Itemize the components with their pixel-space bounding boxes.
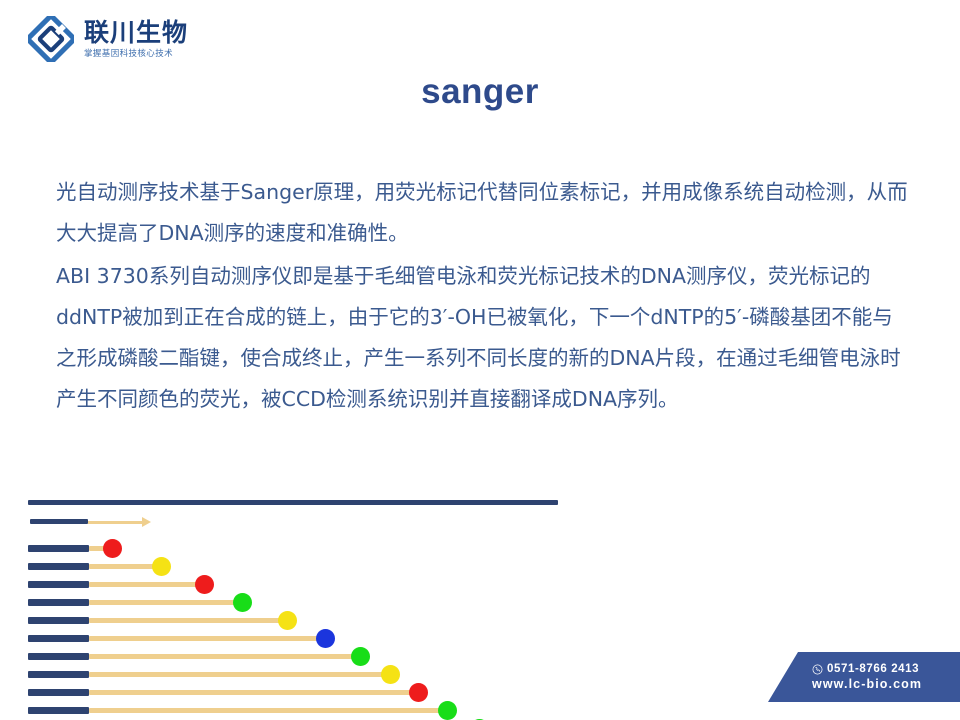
primer-segment (28, 689, 89, 696)
ddntp-dye-red (409, 683, 428, 702)
ddntp-dye-yellow (152, 557, 171, 576)
extended-strand-segment (89, 618, 287, 623)
ddntp-dye-yellow (381, 665, 400, 684)
paragraph-1: 光自动测序技术基于Sanger原理，用荧光标记代替同位素标记，并用成像系统自动检… (56, 172, 912, 254)
arrow-head-icon (142, 517, 151, 527)
extension-direction-arrow (88, 521, 142, 524)
ddntp-dye-yellow (278, 611, 297, 630)
dna-template-strand (28, 500, 558, 505)
ddntp-dye-green (233, 593, 252, 612)
company-logo: 联川生物 掌握基因科技核心技术 (28, 16, 188, 62)
primer-segment (28, 707, 89, 714)
telephone-icon (812, 664, 823, 675)
liankuan-diamond-logo-icon (28, 16, 74, 62)
extended-strand-segment (89, 708, 447, 713)
logo-company-name: 联川生物 (84, 20, 188, 45)
footer-website: www.lc-bio.com (812, 677, 960, 691)
extended-strand-segment (89, 564, 161, 569)
extended-strand-segment (89, 690, 418, 695)
logo-wordmark: 联川生物 掌握基因科技核心技术 (84, 20, 188, 59)
ddntp-dye-blue (316, 629, 335, 648)
ddntp-dye-red (103, 539, 122, 558)
extended-strand-segment (89, 654, 360, 659)
extended-strand-segment (89, 582, 204, 587)
contact-footer-banner: 0571-8766 2413 www.lc-bio.com (768, 652, 960, 702)
paragraph-2: ABI 3730系列自动测序仪即是基于毛细管电泳和荧光标记技术的DNA测序仪，荧… (56, 256, 912, 420)
primer-segment (30, 519, 88, 524)
ddntp-dye-red (195, 575, 214, 594)
extended-strand-segment (89, 636, 325, 641)
ddntp-dye-green (438, 701, 457, 720)
primer-segment (28, 653, 89, 660)
slide: 联川生物 掌握基因科技核心技术 sanger 光自动测序技术基于Sanger原理… (0, 0, 960, 720)
primer-segment (28, 635, 89, 642)
logo-tagline: 掌握基因科技核心技术 (84, 50, 188, 59)
page-title: sanger (0, 72, 960, 112)
extended-strand-segment (89, 600, 242, 605)
ddntp-dye-green (351, 647, 370, 666)
primer-segment (28, 545, 89, 552)
body-copy: 光自动测序技术基于Sanger原理，用荧光标记代替同位素标记，并用成像系统自动检… (56, 172, 912, 420)
footer-phone-text: 0571-8766 2413 (827, 663, 919, 675)
primer-segment (28, 581, 89, 588)
primer-segment (28, 599, 89, 606)
primer-segment (28, 563, 89, 570)
primer-segment (28, 617, 89, 624)
footer-phone: 0571-8766 2413 (812, 663, 960, 675)
extended-strand-segment (89, 672, 390, 677)
primer-segment (28, 671, 89, 678)
